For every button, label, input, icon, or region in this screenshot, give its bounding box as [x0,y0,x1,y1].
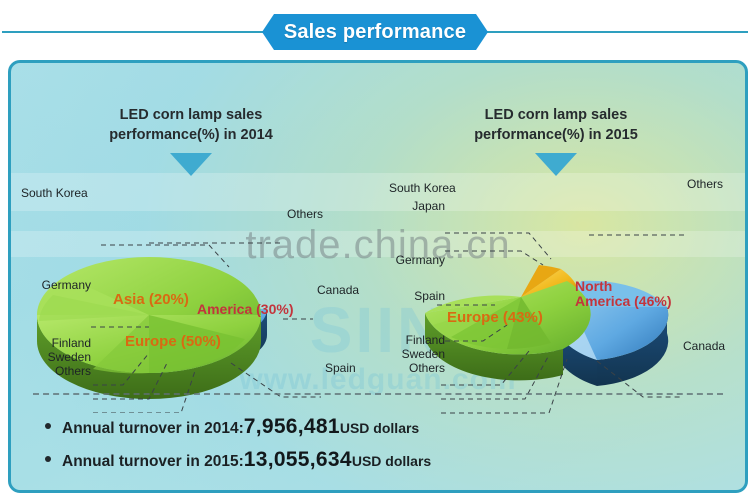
section-divider [33,393,723,395]
pie-2015-callout-canada: Canada [683,339,725,353]
pie-2015-callout-others: Others [381,361,445,375]
pie-2014-label-america: America (30%) [197,301,294,317]
turnover-2015-value: 13,055,634 [244,448,352,472]
header-rule-left [2,31,266,33]
summary-list: Annual turnover in 2014: 7,956,481 USD d… [45,415,431,481]
pie-2015-label-north-america: North America (46%) [575,279,672,309]
pie-2015-callout-germany: Germany [381,253,445,267]
chart-2014-title-line1: LED corn lamp sales [66,105,316,125]
list-item: Annual turnover in 2014: 7,956,481 USD d… [45,415,431,439]
triangle-down-icon [535,153,577,176]
bullet-icon [45,456,51,462]
chart-2014-heading: LED corn lamp sales performance(%) in 20… [66,105,316,176]
turnover-2015-label: Annual turnover in 2015: [62,453,244,471]
pie-2015-callout-finland: Finland [381,333,445,347]
chart-2015-heading: LED corn lamp sales performance(%) in 20… [431,105,681,176]
pie-2014-callout-south-korea: South Korea [21,186,81,200]
bullet-icon [45,423,51,429]
content-panel: trade.china.cn SIIN www.ledguan.com LED … [8,60,748,493]
chart-2015-title-line1: LED corn lamp sales [431,105,681,125]
pie-2014-label-europe: Europe (50%) [125,333,221,350]
pie-2015-callout-spain: Spain [381,289,445,303]
page-title: Sales performance [284,21,466,44]
pie-2015-callout-sweden: Sweden [381,347,445,361]
header-rule-right [484,31,748,33]
pie-chart-2014: Asia (20%) America (30%) Europe (50%) [31,223,371,413]
pie-2015-callout-others-right: Others [687,177,723,191]
pie-chart-2015: Europe (43%) North America (46%) [411,221,741,416]
chart-2015-title-line2: performance(%) in 2015 [431,125,681,145]
sales-performance-infographic: Sales performance trade.china.cn SIIN ww… [0,0,750,495]
triangle-down-icon [170,153,212,176]
turnover-2014-label: Annual turnover in 2014: [62,420,244,438]
turnover-2015-unit: USD dollars [352,453,431,469]
pie-2014-callout-sweden: Sweden [11,350,91,364]
turnover-2014-value: 7,956,481 [244,415,340,439]
chart-2014-title-line2: performance(%) in 2014 [66,125,316,145]
pie-chart-2014-svg [31,223,371,413]
pie-2014-callout-germany: Germany [11,278,91,292]
pie-2015-callout-japan: Japan [389,199,445,213]
pie-2014-callout-canada: Canada [317,283,359,297]
watermark-band-upper [11,173,745,211]
pie-2015-callout-south-korea: South Korea [389,181,445,195]
page-header: Sales performance [0,12,750,52]
pie-2014-callout-others: Others [11,364,91,378]
section-title-banner: Sales performance [262,14,488,50]
pie-2014-callout-finland: Finland [11,336,91,350]
pie-2014-callout-spain: Spain [325,361,356,375]
pie-2014-callout-others-right: Others [287,207,323,221]
list-item: Annual turnover in 2015: 13,055,634 USD … [45,448,431,472]
pie-2015-label-europe: Europe (43%) [447,309,543,326]
pie-2014-label-asia: Asia (20%) [113,291,189,308]
turnover-2014-unit: USD dollars [340,420,419,436]
